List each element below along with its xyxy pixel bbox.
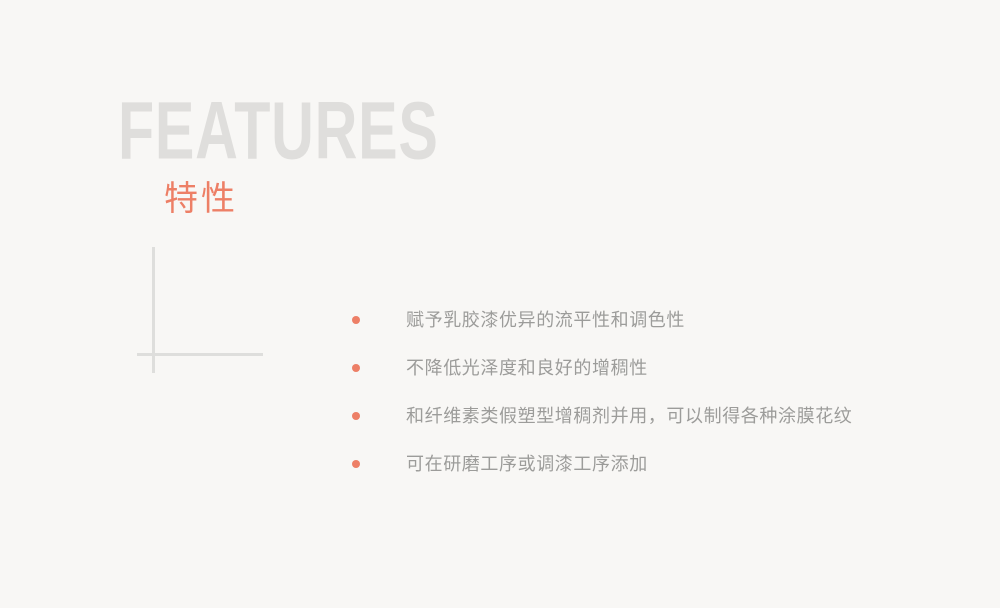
page-title-english: FEATURES xyxy=(118,90,439,172)
list-item: 赋予乳胶漆优异的流平性和调色性 xyxy=(346,296,946,344)
bullet-dot-icon xyxy=(352,460,360,468)
list-item: 不降低光泽度和良好的增稠性 xyxy=(346,344,946,392)
list-item: 可在研磨工序或调漆工序添加 xyxy=(346,440,946,488)
page-title-chinese: 特性 xyxy=(164,179,238,219)
bullet-dot-icon xyxy=(352,364,360,372)
slide-canvas: FEATURES 特性 赋予乳胶漆优异的流平性和调色性 不降低光泽度和良好的增稠… xyxy=(0,0,1000,608)
decoration-vertical-line xyxy=(152,247,155,373)
feature-list: 赋予乳胶漆优异的流平性和调色性 不降低光泽度和良好的增稠性 和纤维素类假塑型增稠… xyxy=(346,296,946,488)
decoration-horizontal-line xyxy=(137,353,263,356)
bullet-dot-icon xyxy=(352,316,360,324)
list-item-label: 不降低光泽度和良好的增稠性 xyxy=(406,355,648,381)
bullet-dot-icon xyxy=(352,412,360,420)
list-item: 和纤维素类假塑型增稠剂并用，可以制得各种涂膜花纹 xyxy=(346,392,946,440)
cross-decoration xyxy=(130,240,275,385)
list-item-label: 和纤维素类假塑型增稠剂并用，可以制得各种涂膜花纹 xyxy=(406,403,852,429)
list-item-label: 可在研磨工序或调漆工序添加 xyxy=(406,451,648,477)
list-item-label: 赋予乳胶漆优异的流平性和调色性 xyxy=(406,307,685,333)
